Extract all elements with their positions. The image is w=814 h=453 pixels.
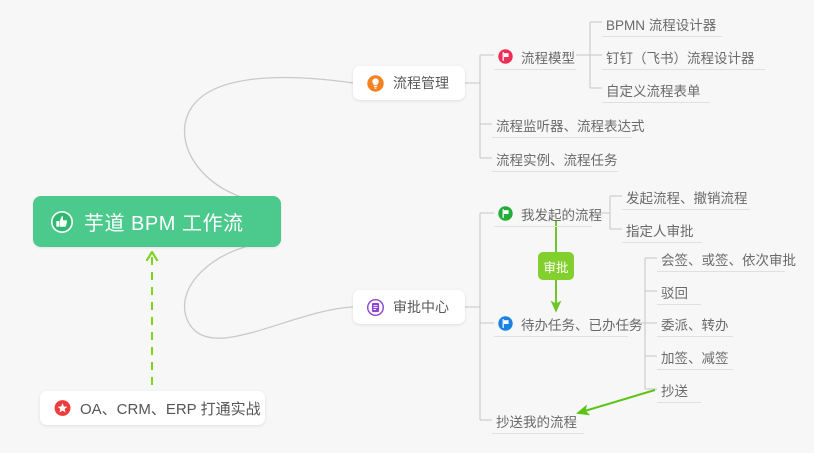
leaf-node-bpmn-designer[interactable]: BPMN 流程设计器 [602,11,722,37]
branch-node-approval-center[interactable]: 审批中心 [353,290,465,324]
flag-icon [498,316,513,331]
connector-root-to-process-management [185,78,353,204]
leaf-label-reject: 驳回 [661,282,688,302]
document-icon [367,299,384,316]
leaf-node-dingtalk-designer[interactable]: 钉钉（飞书）流程设计器 [602,44,765,70]
leaf-node-todo-done-tasks[interactable]: 待办任务、已办任务 [494,311,628,337]
callout-label-oa-crm-erp: OA、CRM、ERP 打通实战 [80,398,261,419]
star-icon [54,400,71,417]
branch-node-process-management[interactable]: 流程管理 [353,66,465,100]
leaf-label-assignee-approval: 指定人审批 [626,220,694,240]
lightbulb-icon [367,75,384,92]
leaf-label-my-initiated-process: 我发起的流程 [521,204,602,224]
approve-tag-label: 审批 [543,257,568,276]
leaf-node-process-listener[interactable]: 流程监听器、流程表达式 [492,112,632,138]
leaf-node-custom-process-form[interactable]: 自定义流程表单 [602,77,710,103]
callout-node-oa-crm-erp[interactable]: OA、CRM、ERP 打通实战 [40,391,265,425]
flag-icon [498,49,513,64]
leaf-node-countersign[interactable]: 会签、或签、依次审批 [657,246,785,272]
mindmap-canvas: 芋道 BPM 工作流 流程管理 流程模型 流程监听器、流程表达式 流程实例、流 [0,0,814,453]
branch-label-approval-center: 审批中心 [393,297,449,317]
leaf-label-cc-to-me-process: 抄送我的流程 [496,411,577,431]
branch-label-process-management: 流程管理 [393,73,449,93]
leaf-label-bpmn-designer: BPMN 流程设计器 [606,14,716,34]
leaf-node-process-instance[interactable]: 流程实例、流程任务 [492,146,618,172]
thumbs-up-icon [50,210,74,234]
approve-tag: 审批 [538,252,574,280]
leaf-label-todo-done-tasks: 待办任务、已办任务 [521,314,643,334]
leaf-node-assignee-approval[interactable]: 指定人审批 [622,217,702,243]
leaf-node-reject[interactable]: 驳回 [657,279,701,305]
leaf-label-delegate-transfer: 委派、转办 [661,314,729,334]
leaf-node-my-initiated-process[interactable]: 我发起的流程 [494,201,592,227]
root-node[interactable]: 芋道 BPM 工作流 [33,196,281,247]
leaf-label-custom-process-form: 自定义流程表单 [606,80,701,100]
leaf-node-cc[interactable]: 抄送 [657,377,701,403]
leaf-node-add-remove-sign[interactable]: 加签、减签 [657,344,733,370]
leaf-node-start-cancel-process[interactable]: 发起流程、撤销流程 [622,184,750,210]
arrow-cc-to-ccme [578,390,655,413]
leaf-label-process-model: 流程模型 [521,47,575,67]
leaf-node-cc-to-me-process[interactable]: 抄送我的流程 [492,408,584,434]
leaf-label-countersign: 会签、或签、依次审批 [661,249,796,269]
connector-root-to-approval-center [185,241,353,338]
leaf-label-add-remove-sign: 加签、减签 [661,347,729,367]
leaf-label-process-listener: 流程监听器、流程表达式 [496,115,645,135]
leaf-label-process-instance: 流程实例、流程任务 [496,149,618,169]
leaf-node-delegate-transfer[interactable]: 委派、转办 [657,311,733,337]
root-node-label: 芋道 BPM 工作流 [84,207,243,236]
leaf-label-dingtalk-designer: 钉钉（飞书）流程设计器 [606,47,755,67]
flag-icon [498,206,513,221]
leaf-label-cc: 抄送 [661,380,688,400]
leaf-label-start-cancel-process: 发起流程、撤销流程 [626,187,748,207]
leaf-node-process-model[interactable]: 流程模型 [494,44,576,70]
